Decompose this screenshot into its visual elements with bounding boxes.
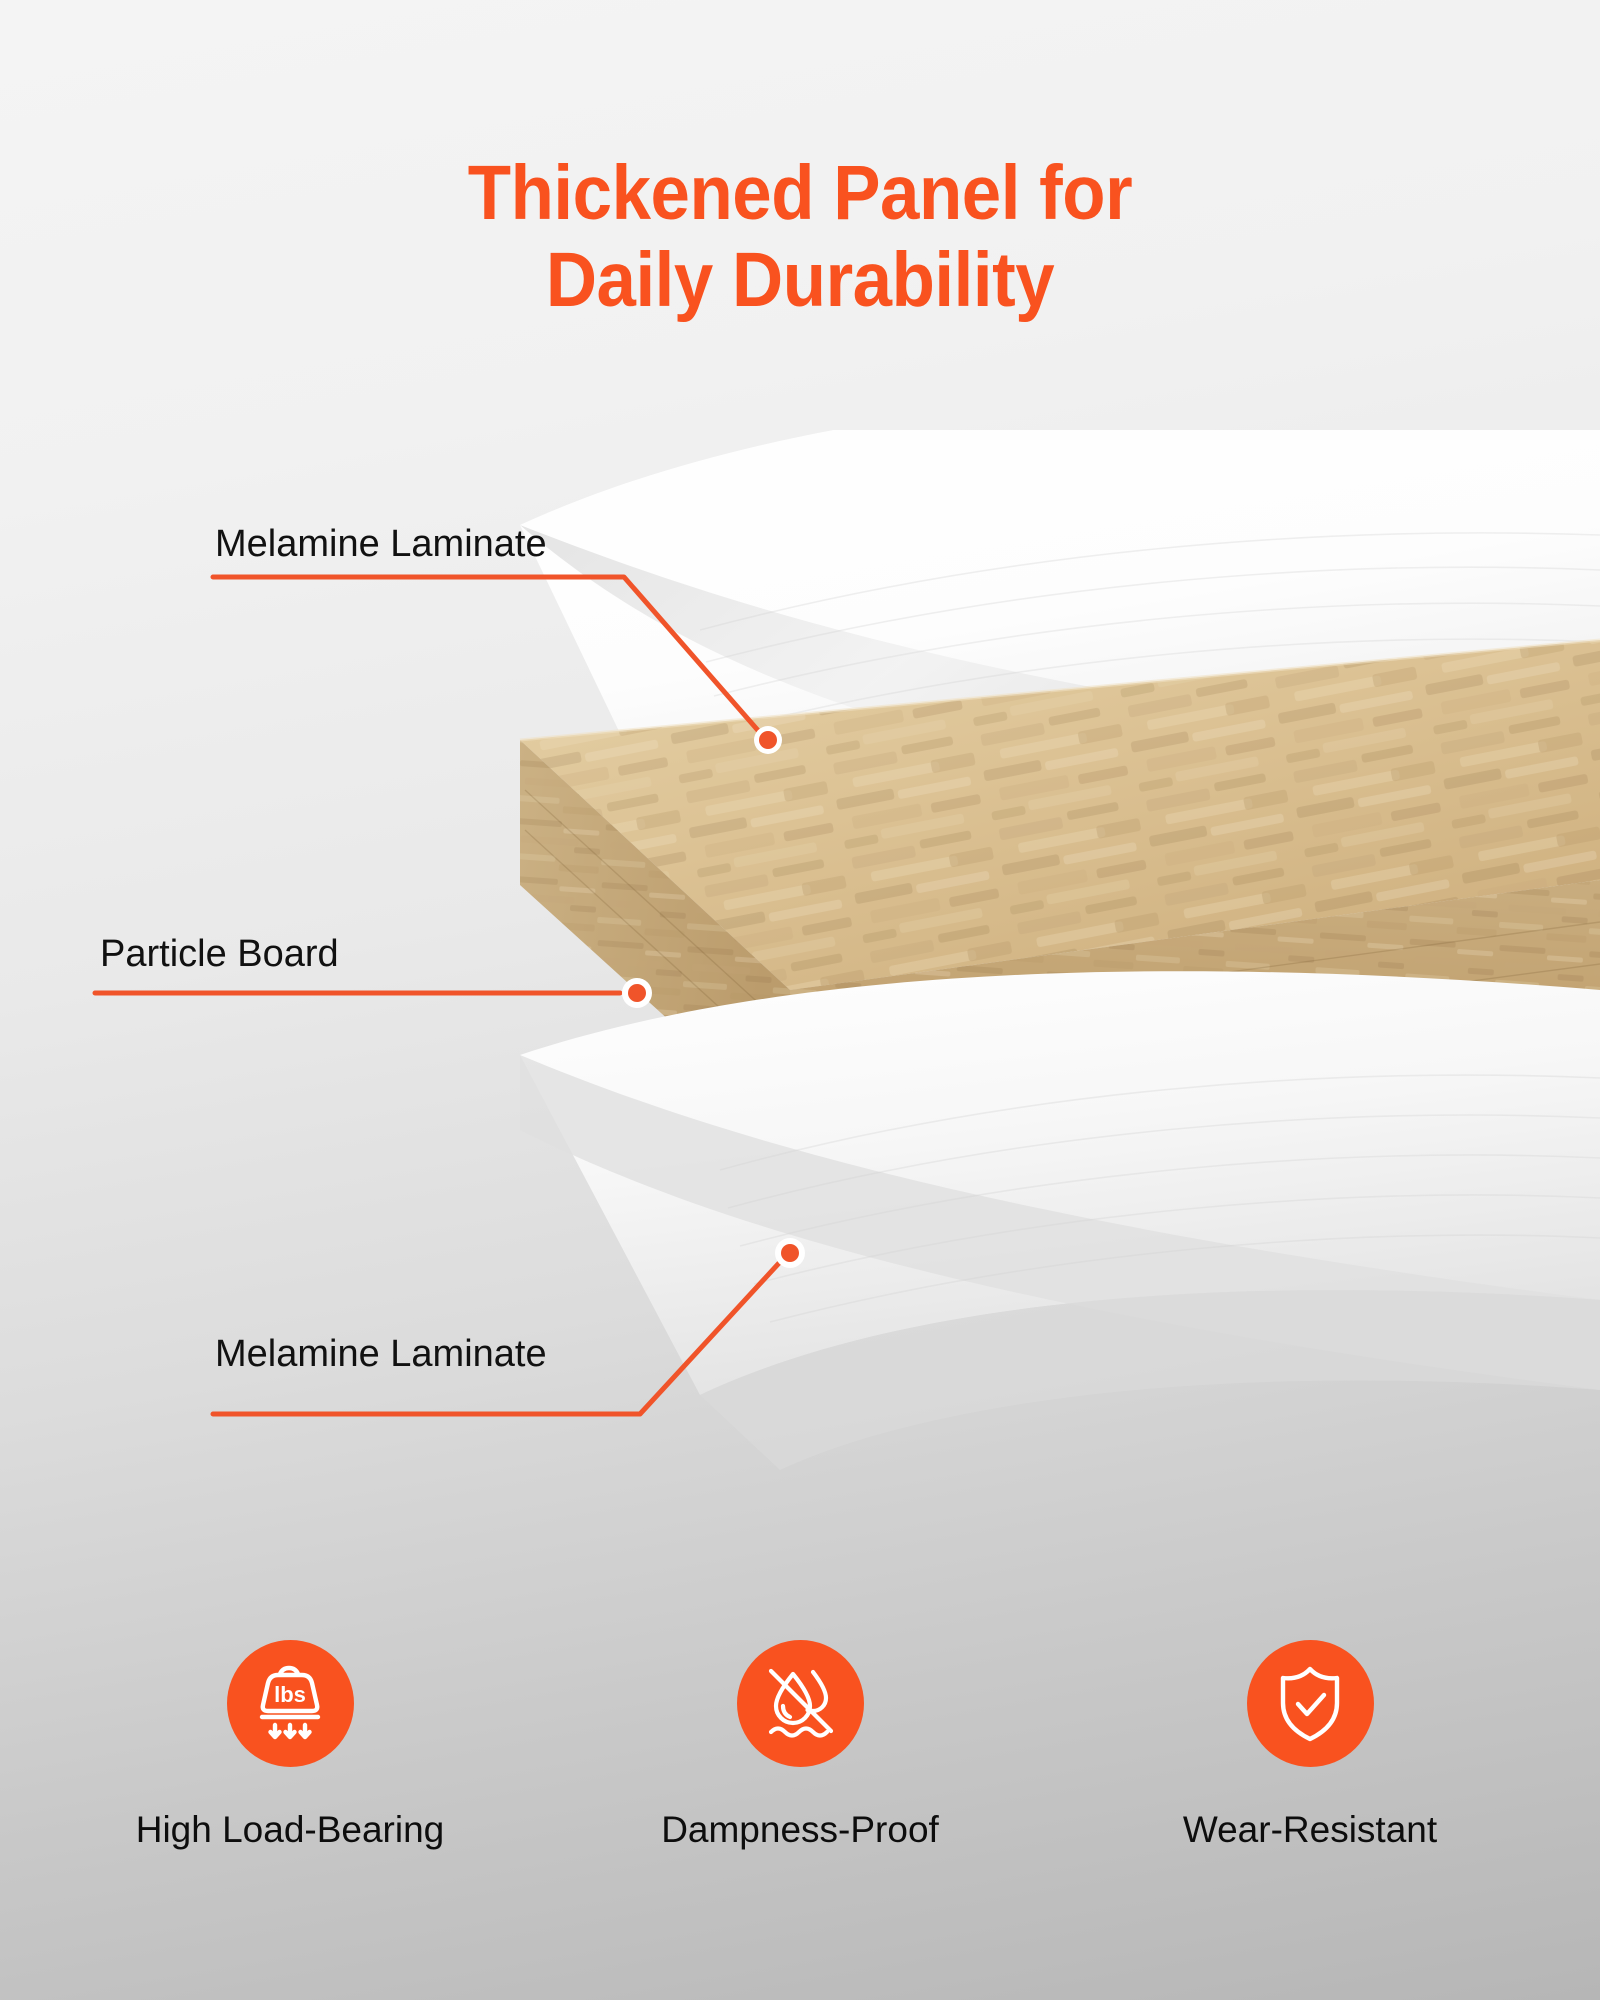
bottom-melamine-sheet-graphic [520,971,1600,1470]
exploded-panel-diagram [0,430,1600,1620]
feature-dampness-proof: Dampness-Proof [645,1640,955,1848]
weight-lbs-icon: lbs [247,1661,333,1747]
feature-list: lbs High Load-Bearing Dampness-Proof [0,1640,1600,1848]
feature-label: Wear-Resistant [1183,1811,1437,1848]
callout-label: Particle Board [100,935,339,973]
feature-label: Dampness-Proof [661,1811,939,1848]
callout-label: Melamine Laminate [215,1335,547,1373]
feature-icon-badge [1247,1640,1374,1767]
callout-top-laminate: Melamine Laminate [215,525,547,563]
callout-bottom-laminate: Melamine Laminate [215,1335,547,1373]
feature-icon-badge: lbs [227,1640,354,1767]
title-line-2: Daily Durability [64,237,1536,324]
page-title: Thickened Panel for Daily Durability [64,150,1536,324]
title-line-1: Thickened Panel for [468,150,1132,236]
callout-label: Melamine Laminate [215,525,547,563]
feature-label: High Load-Bearing [136,1811,445,1848]
callout-particle-board: Particle Board [100,935,339,973]
weight-icon-text: lbs [274,1682,306,1707]
feature-high-load-bearing: lbs High Load-Bearing [135,1640,445,1848]
shield-check-icon [1267,1661,1353,1747]
feature-icon-badge [737,1640,864,1767]
feature-wear-resistant: Wear-Resistant [1155,1640,1465,1848]
no-water-drop-icon [757,1661,843,1747]
